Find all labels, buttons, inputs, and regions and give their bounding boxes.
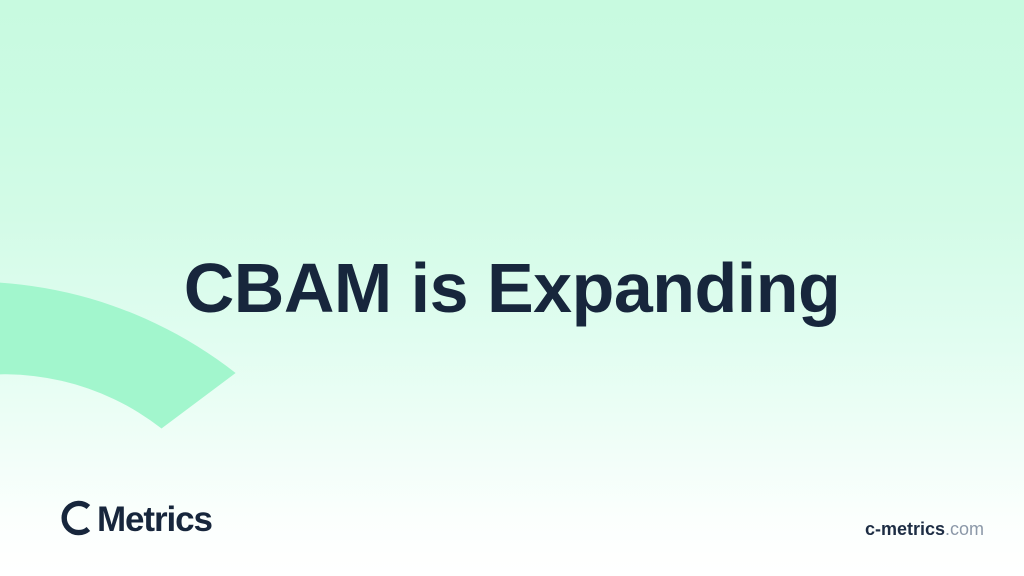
site-url-tld: .com (945, 519, 984, 539)
brand-logo: Metrics (56, 498, 212, 538)
page-title: CBAM is Expanding (184, 250, 841, 327)
logo-c-arc-icon (56, 498, 96, 538)
title-slide: CBAM is Expanding Metrics c-metrics.com (0, 0, 1024, 576)
site-url[interactable]: c-metrics.com (865, 520, 984, 538)
brand-logo-wordmark: Metrics (97, 502, 212, 537)
site-url-name: c-metrics (865, 519, 945, 539)
title-block: CBAM is Expanding (0, 0, 1024, 576)
